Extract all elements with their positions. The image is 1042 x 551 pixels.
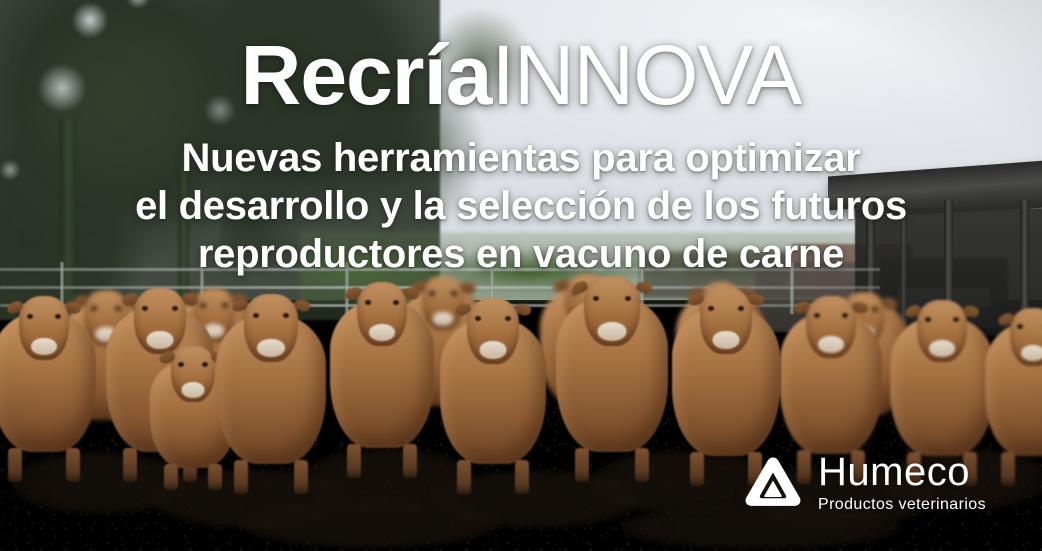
cow-eye (1017, 324, 1023, 329)
cow-eye (202, 362, 208, 367)
cow (330, 300, 434, 448)
cow-leg (234, 460, 248, 494)
cow-muzzle (31, 338, 57, 355)
cow-muzzle (433, 312, 454, 326)
cow-head (1010, 308, 1042, 366)
cow-muzzle (929, 340, 955, 357)
cow-head (171, 346, 215, 402)
cow-leg (347, 444, 361, 478)
page-title: RecríaINNOVA (0, 33, 1042, 117)
cow-head (422, 276, 464, 330)
cow (780, 312, 882, 454)
cattle-shadow (240, 500, 500, 548)
cow-eye (142, 306, 148, 311)
cow (556, 296, 668, 452)
logo-text-block: Humeco Productos veterinarios (818, 452, 986, 515)
cow-leg (208, 464, 222, 490)
cow-head (357, 282, 407, 346)
cow-eye (872, 307, 878, 312)
cow (0, 312, 96, 452)
cow-eye (283, 313, 289, 318)
subtitle: Nuevas herramientas para optimizar el de… (0, 134, 1042, 278)
cow-leg (635, 448, 649, 482)
cow-eye (842, 313, 848, 318)
cow-head (134, 288, 186, 354)
cow-eye (953, 317, 959, 322)
humeco-logo[interactable]: Humeco Productos veterinarios (742, 452, 986, 515)
cow-eye (625, 296, 631, 301)
cow-head (806, 296, 856, 358)
cow-muzzle (369, 324, 395, 341)
cow-leg (294, 460, 308, 494)
cow (672, 306, 780, 456)
title-bold-part: Recría (241, 28, 492, 122)
title-light-part: INNOVA (492, 28, 802, 122)
cow-eye (393, 300, 399, 305)
cow-eye (738, 306, 744, 311)
cow-leg (66, 448, 80, 482)
cow-leg (403, 444, 417, 478)
cow (440, 318, 546, 464)
cow-muzzle (713, 331, 740, 349)
cow-eye (365, 300, 371, 305)
cow-head (917, 300, 967, 362)
cow-leg (8, 448, 22, 482)
cow-leg (1001, 452, 1015, 486)
cow-eye (178, 362, 184, 367)
cow-muzzle (147, 331, 174, 349)
cow-eye (451, 291, 457, 296)
cow-eye (91, 306, 97, 311)
cow-muzzle (1021, 345, 1042, 361)
cow-head (584, 276, 640, 346)
triangle-logo-icon (742, 454, 804, 510)
cow-muzzle (182, 382, 205, 398)
cow (216, 314, 326, 464)
cow-eye (55, 314, 61, 319)
cow-head (700, 288, 752, 354)
cow-eye (814, 313, 820, 318)
cow-eye (222, 303, 228, 308)
cow-eye (925, 317, 931, 322)
cow-leg (515, 460, 529, 494)
cow-head (19, 296, 69, 360)
cow-head (467, 298, 519, 364)
cow-eye (475, 316, 481, 321)
cow-leg (575, 448, 589, 482)
cow-muzzle (818, 336, 844, 353)
cow-eye (172, 306, 178, 311)
cow-leg (123, 448, 137, 482)
promo-banner: RecríaINNOVA Nuevas herramientas para op… (0, 0, 1042, 551)
cow (985, 322, 1042, 456)
cow-eye (429, 291, 435, 296)
cow-head (244, 294, 298, 362)
cow-muzzle (257, 339, 285, 357)
cow-eye (593, 296, 599, 301)
subtitle-line-3: reproductores en vacuno de carne (0, 230, 1042, 278)
cow-eye (27, 314, 33, 319)
cow-eye (253, 313, 259, 318)
cow-eye (708, 306, 714, 311)
logo-tagline: Productos veterinarios (818, 495, 986, 515)
cow-muzzle (480, 341, 507, 359)
cow-leg (457, 460, 471, 494)
cow-eye (115, 306, 121, 311)
cow-leg (690, 452, 704, 486)
cow (890, 316, 994, 456)
cow-eye (200, 303, 206, 308)
subtitle-line-2: el desarrollo y la selección de los futu… (0, 182, 1042, 230)
subtitle-line-1: Nuevas herramientas para optimizar (0, 134, 1042, 182)
logo-brand-name: Humeco (818, 452, 986, 492)
cow-leg (164, 464, 178, 490)
cow-muzzle (598, 322, 627, 341)
cow-eye (505, 316, 511, 321)
